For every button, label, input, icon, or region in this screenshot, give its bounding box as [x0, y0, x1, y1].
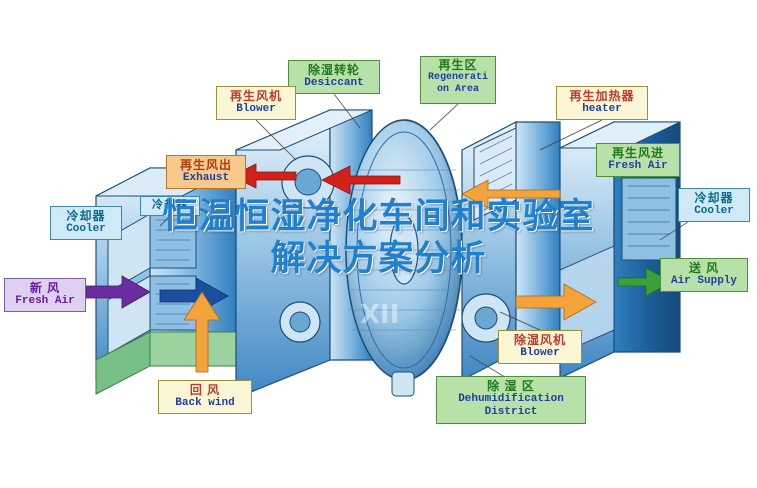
label-regeneration-area: 再生区 Regenerati on Area	[420, 56, 496, 104]
label-back-wind: 回 风 Back wind	[158, 380, 252, 414]
title-line-2: 解决方案分析	[0, 238, 757, 280]
faint-watermark: XII	[360, 300, 399, 330]
label-exhaust: 再生风出 Exhaust	[166, 155, 246, 189]
label-desiccant-wheel: 除湿转轮 Desiccant	[288, 60, 380, 94]
label-regeneration-blower: 再生风机 Blower	[216, 86, 296, 120]
title-line-1: 恒温恒湿净化车间和实验室	[0, 196, 757, 238]
title-overlay: 恒温恒湿净化车间和实验室 解决方案分析	[0, 196, 757, 280]
label-regeneration-heater: 再生加热器 heater	[556, 86, 648, 120]
label-dehumidify-district: 除 湿 区 Dehumidification District	[436, 376, 586, 424]
label-fresh-air-regen: 再生风进 Fresh Air	[596, 143, 680, 177]
label-dehumidify-blower: 除湿风机 Blower	[498, 330, 582, 364]
label-fresh-air-left: 新 风 Fresh Air	[4, 278, 86, 312]
dehumidifier-flow-diagram: 除湿转轮 Desiccant 再生区 Regenerati on Area 再生…	[0, 0, 757, 488]
